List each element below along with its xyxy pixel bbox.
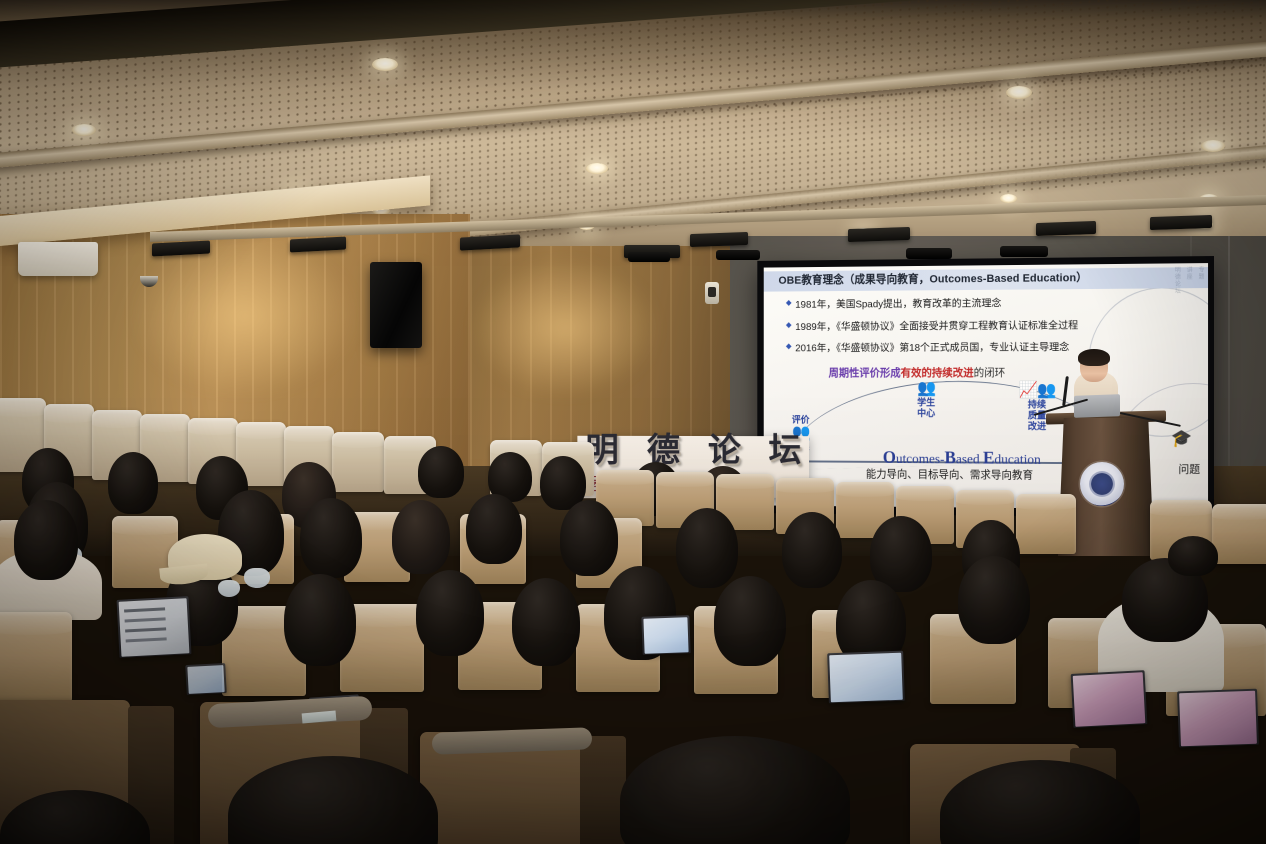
loudspeaker-icon — [370, 262, 422, 348]
people-group-icon: 👥 — [902, 381, 951, 397]
presenter-hair — [1078, 349, 1110, 366]
ceiling-fixture — [1000, 246, 1048, 257]
audience-head — [958, 556, 1030, 644]
emphasis-part-2: 有效的持续改进 — [901, 367, 974, 379]
ceiling-fixture — [716, 250, 760, 260]
audience-head — [108, 452, 158, 514]
track-light-icon — [1036, 221, 1096, 236]
slide-bullet: ◆ 2016年，《华盛顿协议》第18个正式成员国，专业认证主导理念 — [786, 338, 1197, 354]
track-light-icon — [690, 232, 748, 247]
laptop-screen[interactable] — [641, 615, 690, 655]
diagram-center-subtitle: 能力导向、目标导向、需求导向教育 — [866, 466, 1033, 483]
laptop-display — [829, 653, 903, 702]
graduation-cap-icon: 🎓 — [1171, 429, 1192, 449]
laptop-display — [119, 598, 190, 656]
laptop-screen[interactable] — [1177, 689, 1259, 748]
wall-accent-glow — [470, 258, 660, 398]
corner-mark-text: 讲座 — [1184, 266, 1193, 294]
audience-head — [14, 500, 78, 580]
bullet-marker-icon: ◆ — [786, 296, 792, 309]
banner-char: 论 — [708, 423, 741, 471]
audience-head — [416, 570, 484, 656]
diagram-node-student: 👥 学生中心 — [902, 381, 951, 419]
downlight-icon — [72, 124, 96, 136]
bullet-text: 2016年，《华盛顿协议》第18个正式成员国，专业认证主导理念 — [795, 339, 1069, 355]
node-label: 学生中心 — [902, 398, 951, 420]
seat-row — [0, 612, 72, 702]
people-growth-icon: 📈👥 — [1010, 383, 1064, 399]
downlight-icon — [1006, 86, 1032, 99]
audience-head — [560, 500, 618, 576]
slide-emphasis-line: 周期性评价形成有效的持续改进的闭环 — [829, 364, 1006, 380]
university-seal-icon — [1080, 462, 1124, 506]
seat-row — [1212, 504, 1266, 564]
bullet-marker-icon: ◆ — [786, 340, 792, 353]
audience-head — [392, 500, 450, 574]
ceiling-fixture — [906, 248, 952, 259]
laptop-screen[interactable] — [185, 663, 227, 695]
bullet-text: 1989年，《华盛顿协议》全面接受并贯穿工程教育认证标准全过程 — [795, 316, 1078, 332]
banner-char: 坛 — [769, 423, 802, 471]
diagram-tail-text: 问题 — [1178, 461, 1200, 477]
obe-cap-e: E — [983, 448, 994, 468]
audience-head-foreground — [620, 736, 850, 844]
slide-bullet: ◆ 1981年，美国Spady提出，教育改革的主流理念 — [786, 293, 1197, 311]
laptop-screen[interactable] — [1071, 670, 1148, 728]
audience-head — [300, 498, 362, 578]
camera-icon — [705, 282, 719, 304]
downlight-icon — [1201, 140, 1225, 152]
audience-head — [512, 578, 580, 666]
seat-row — [1016, 494, 1076, 554]
podium-laptop — [1074, 394, 1120, 418]
track-light-icon — [848, 227, 910, 242]
downlight-icon — [586, 163, 608, 174]
bullet-text: 1981年，美国Spady提出，教育改革的主流理念 — [795, 295, 1001, 311]
audience-head — [466, 494, 522, 564]
laptop-display — [1179, 691, 1257, 747]
ceiling-fixture — [628, 252, 670, 262]
slide-bullet: ◆ 1989年，《华盛顿协议》全面接受并贯穿工程教育认证标准全过程 — [786, 316, 1197, 333]
laptop-display — [643, 617, 688, 654]
face-mask-icon — [218, 580, 240, 597]
audience-head — [782, 512, 842, 588]
slide-corner-marks: 明德论坛 讲座 专题 — [1172, 266, 1205, 294]
audience-head — [284, 574, 356, 666]
downlight-icon — [1000, 194, 1017, 203]
face-mask-icon — [244, 568, 270, 588]
audience-head — [418, 446, 464, 498]
laptop-display — [187, 665, 224, 694]
obe-cap-o: O — [883, 447, 896, 467]
track-light-icon — [1150, 215, 1212, 230]
seat-empty — [332, 432, 384, 492]
air-conditioner-unit — [18, 242, 98, 276]
wall-accent-glow — [130, 236, 360, 396]
downlight-icon — [372, 58, 398, 71]
corner-mark-text: 明德论坛 — [1172, 266, 1181, 294]
emphasis-part-3: 的闭环 — [974, 367, 1006, 379]
audience-head — [676, 508, 738, 588]
bullet-marker-icon: ◆ — [786, 318, 792, 331]
corner-mark-text: 专题 — [1196, 266, 1205, 294]
laptop-display — [1073, 672, 1146, 727]
audience-head — [1168, 536, 1218, 576]
laptop-screen[interactable] — [827, 651, 905, 704]
lecture-hall-photo: OBE教育理念（成果导向教育，Outcomes-Based Education）… — [0, 0, 1266, 844]
laptop-screen[interactable] — [117, 596, 192, 658]
emphasis-part-1: 周期性评价形成 — [829, 368, 901, 380]
banner-title: 明 德 论 坛 — [585, 426, 801, 468]
obe-cap-b: B — [944, 448, 955, 468]
audience-head — [714, 576, 786, 666]
slide-bullet-list: ◆ 1981年，美国Spady提出，教育改革的主流理念 ◆ 1989年，《华盛顿… — [786, 293, 1197, 361]
slide-title: OBE教育理念（成果导向教育，Outcomes-Based Education） — [778, 269, 1199, 289]
